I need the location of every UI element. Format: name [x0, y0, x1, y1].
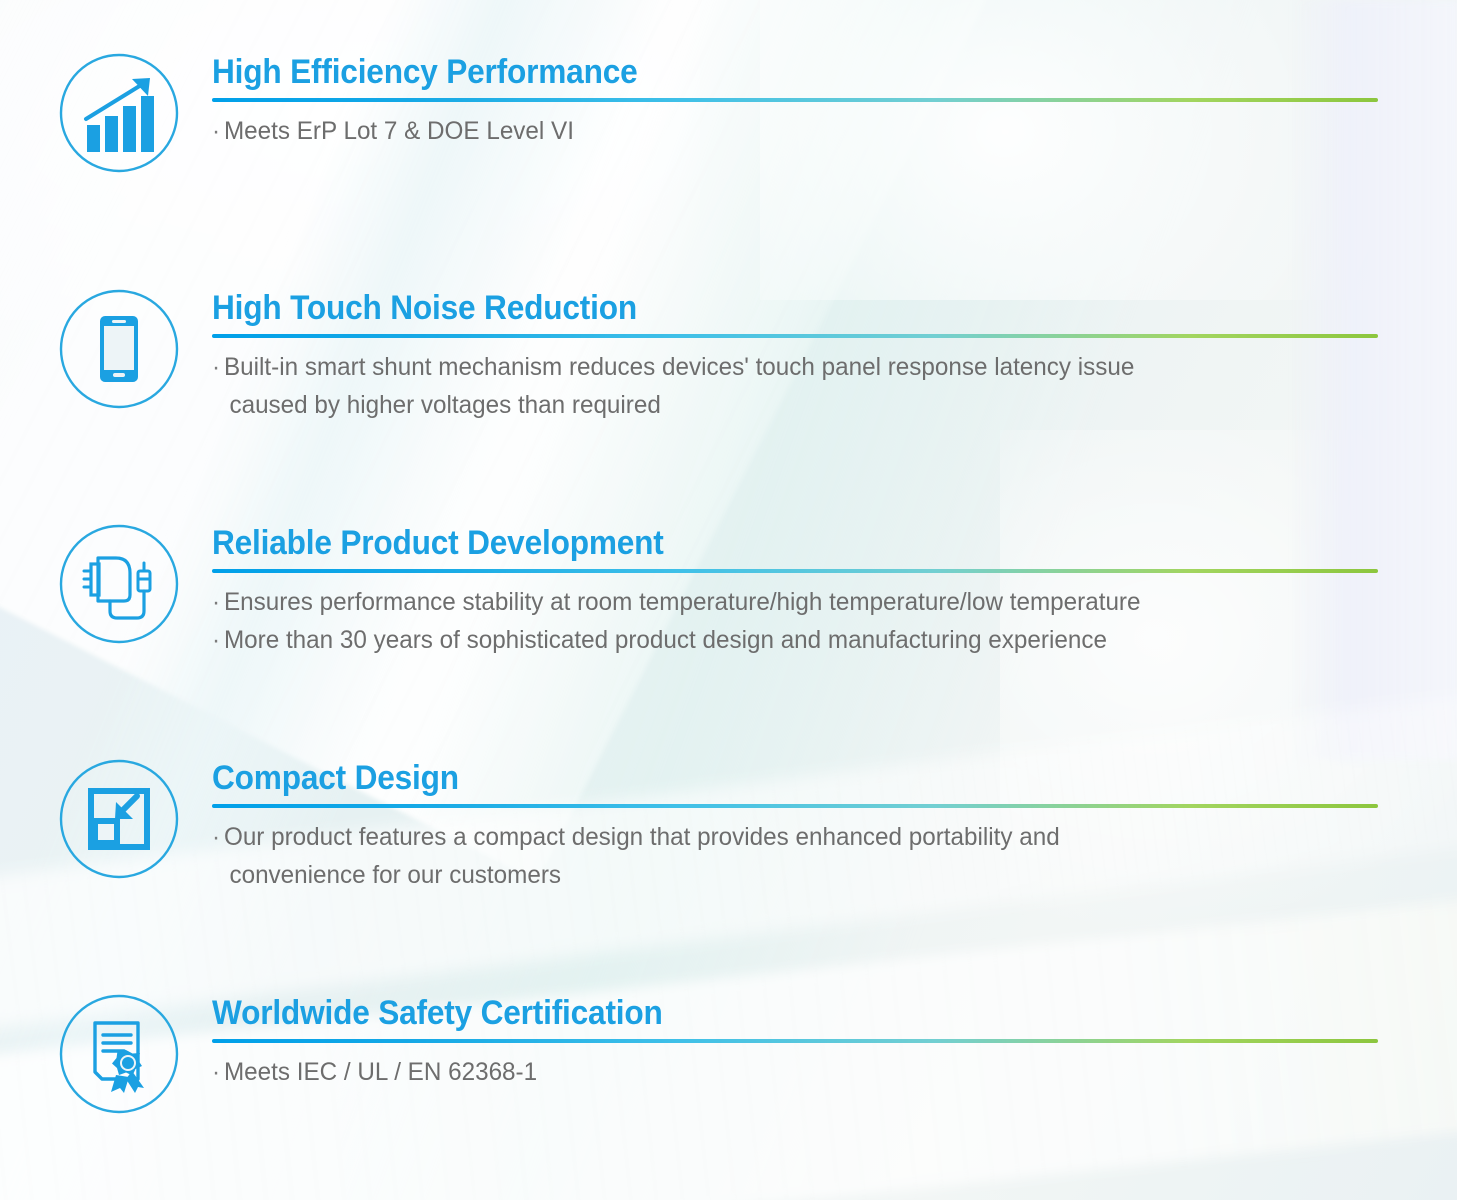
feature-list: High Efficiency Performance ·Meets ErP L… [0, 0, 1457, 1200]
feature-body: High Efficiency Performance ·Meets ErP L… [212, 52, 1380, 150]
feature-highlights-page: High Efficiency Performance ·Meets ErP L… [0, 0, 1457, 1200]
feature-divider [212, 334, 1378, 338]
feature-line-continuation: convenience for our customers [212, 856, 1345, 894]
feature-heading: Compact Design [212, 758, 1298, 798]
feature-divider [212, 98, 1378, 102]
feature-line-text: Meets IEC / UL / EN 62368-1 [224, 1058, 537, 1086]
feature-divider [212, 804, 1378, 808]
feature-divider [212, 569, 1378, 573]
bullet-marker: · [212, 583, 220, 621]
smartphone-icon [58, 288, 180, 410]
power-adapter-icon [58, 523, 180, 645]
feature-line-continuation: caused by higher voltages than required [212, 386, 1345, 424]
feature-heading: Worldwide Safety Certification [212, 993, 1298, 1033]
feature-body: Worldwide Safety Certification ·Meets IE… [212, 993, 1380, 1091]
feature-description: ·Meets ErP Lot 7 & DOE Level VI [212, 112, 1345, 150]
feature-divider [212, 1039, 1378, 1043]
compact-resize-icon [58, 758, 180, 880]
feature-description: ·Built-in smart shunt mechanism reduces … [212, 348, 1345, 424]
feature-line-text: Our product features a compact design th… [224, 823, 1060, 851]
feature-heading: High Efficiency Performance [212, 52, 1298, 92]
feature-body: Compact Design ·Our product features a c… [212, 758, 1380, 894]
feature-description: ·Our product features a compact design t… [212, 818, 1345, 894]
bullet-marker: · [212, 1053, 220, 1091]
feature-line-text: Meets ErP Lot 7 & DOE Level VI [224, 117, 574, 145]
feature-description: ·Meets IEC / UL / EN 62368-1 [212, 1053, 1345, 1091]
bullet-marker: · [212, 818, 220, 856]
bullet-marker: · [212, 348, 220, 386]
feature-line-text: Ensures performance stability at room te… [224, 588, 1141, 616]
feature-body: High Touch Noise Reduction ·Built-in sma… [212, 288, 1380, 424]
certificate-seal-icon [58, 993, 180, 1115]
feature-heading: High Touch Noise Reduction [212, 288, 1298, 328]
bullet-marker: · [212, 112, 220, 150]
feature-line-text: More than 30 years of sophisticated prod… [224, 626, 1107, 654]
feature-description: ·Ensures performance stability at room t… [212, 583, 1345, 659]
bullet-marker: · [212, 621, 220, 659]
feature-heading: Reliable Product Development [212, 523, 1298, 563]
feature-line-text: Built-in smart shunt mechanism reduces d… [224, 353, 1134, 381]
bar-chart-growth-icon [58, 52, 180, 174]
feature-body: Reliable Product Development ·Ensures pe… [212, 523, 1380, 659]
